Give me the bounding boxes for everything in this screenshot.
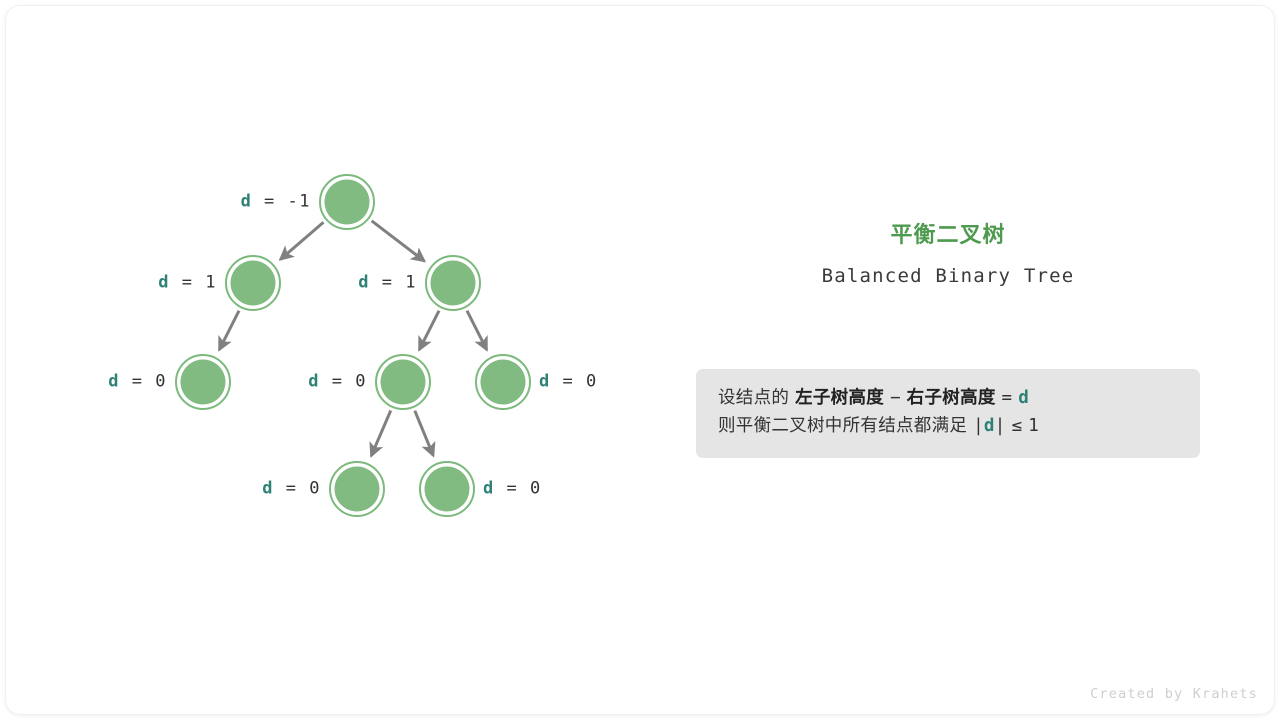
node-balance-label: d = 0 [262, 481, 321, 498]
tree-edge [419, 311, 439, 350]
node-fill [181, 360, 226, 405]
tree-node[interactable] [420, 462, 474, 516]
label-variable: d [241, 192, 253, 212]
tree-node[interactable] [476, 355, 530, 409]
node-fill [481, 360, 526, 405]
tree-node[interactable] [320, 175, 374, 229]
node-balance-label: d = 1 [358, 275, 417, 292]
label-variable: d [483, 479, 495, 499]
node-fill [325, 180, 370, 225]
less-equal-sign: ≤ [1011, 416, 1022, 436]
definition-term-left: 左子树高度 [795, 388, 884, 408]
condition-prefix: 则平衡二叉树中所有结点都满足 [718, 416, 967, 436]
credit-text: Created by Krahets [1090, 686, 1258, 702]
tree-node[interactable] [330, 462, 384, 516]
label-variable: d [158, 273, 170, 293]
variable-d: d [1018, 388, 1029, 408]
definition-line-2: 则平衡二叉树中所有结点都满足 |d| ≤ 1 [718, 412, 1178, 440]
label-variable: d [539, 372, 551, 392]
label-value: = 0 [495, 479, 542, 499]
node-balance-label: d = -1 [241, 194, 311, 211]
tree-node[interactable] [426, 256, 480, 310]
node-fill [381, 360, 426, 405]
node-balance-label: d = 0 [539, 374, 598, 391]
definition-prefix: 设结点的 [718, 388, 789, 408]
node-balance-label: d = 0 [483, 481, 542, 498]
label-variable: d [358, 273, 370, 293]
tree-edge [280, 222, 323, 259]
tree-nodes [176, 175, 530, 516]
definition-term-right: 右子树高度 [907, 388, 996, 408]
info-panel: 平衡二叉树 Balanced Binary Tree [696, 222, 1200, 288]
node-fill [335, 467, 380, 512]
label-value: = 0 [320, 372, 367, 392]
node-balance-label: d = 0 [308, 374, 367, 391]
node-balance-label: d = 0 [108, 374, 167, 391]
diagram-canvas: d = -1d = 1d = 1d = 0d = 0d = 0d = 0d = … [0, 0, 1280, 720]
tree-edge [467, 311, 487, 350]
equals-sign: = [1002, 388, 1013, 408]
tree-edge [219, 311, 239, 350]
variable-d-abs: d [984, 416, 995, 436]
label-value: = 0 [551, 372, 598, 392]
page-title: 平衡二叉树 [696, 222, 1200, 251]
node-balance-label: d = 1 [158, 275, 217, 292]
label-variable: d [308, 372, 320, 392]
tree-node[interactable] [176, 355, 230, 409]
abs-bar-left: | [973, 416, 984, 436]
minus-sign: − [890, 388, 901, 408]
node-fill [425, 467, 470, 512]
tree-node[interactable] [376, 355, 430, 409]
label-value: = 1 [170, 273, 217, 293]
label-value: = 0 [274, 479, 321, 499]
label-variable: d [108, 372, 120, 392]
label-value: = -1 [252, 192, 311, 212]
label-value: = 1 [370, 273, 417, 293]
bound-value: 1 [1028, 416, 1039, 436]
definition-box: 设结点的 左子树高度 − 右子树高度 = d 则平衡二叉树中所有结点都满足 |d… [696, 369, 1200, 458]
tree-edge [415, 411, 434, 456]
page-subtitle: Balanced Binary Tree [696, 264, 1200, 289]
abs-bar-right: | [995, 416, 1006, 436]
node-fill [431, 261, 476, 306]
definition-line-1: 设结点的 左子树高度 − 右子树高度 = d [718, 384, 1178, 412]
tree-edge [372, 221, 425, 261]
tree-edge [371, 410, 391, 455]
label-variable: d [262, 479, 274, 499]
node-fill [231, 261, 276, 306]
binary-tree-graphic [0, 0, 1280, 720]
tree-node[interactable] [226, 256, 280, 310]
label-value: = 0 [120, 372, 167, 392]
